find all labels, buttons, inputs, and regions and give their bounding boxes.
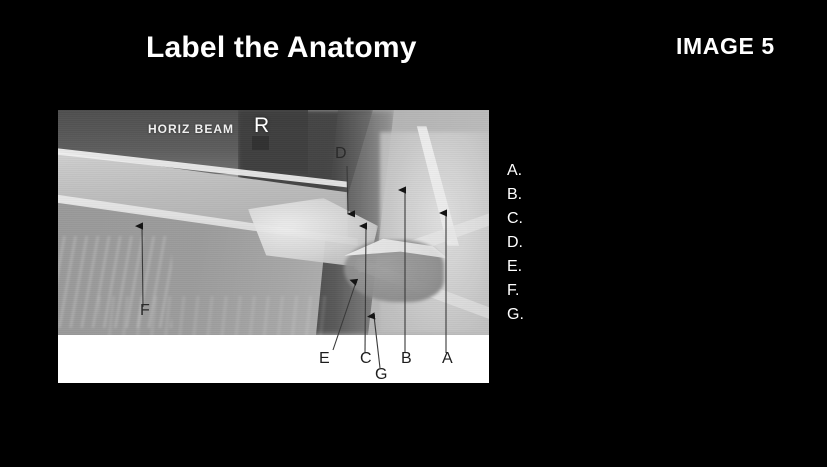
annotation-letter-a: A xyxy=(442,350,453,368)
annotation-letter-c: C xyxy=(360,350,372,368)
answer-item-c[interactable]: C. xyxy=(507,207,524,231)
annotation-letter-f: F xyxy=(140,302,150,320)
image-number-label: IMAGE 5 xyxy=(676,33,775,60)
arrow-line-e xyxy=(333,282,356,350)
radiograph-figure: HORIZ BEAM R D xyxy=(58,110,489,383)
answer-item-e[interactable]: E. xyxy=(507,255,524,279)
answer-item-b[interactable]: B. xyxy=(507,183,524,207)
arrow-line-g xyxy=(374,316,380,368)
annotation-letter-g: G xyxy=(375,366,387,383)
answer-item-g[interactable]: G. xyxy=(507,303,524,327)
annotation-letter-e: E xyxy=(319,350,330,368)
answer-item-f[interactable]: F. xyxy=(507,279,524,303)
slide-canvas: Label the Anatomy IMAGE 5 A. B. C. D. E.… xyxy=(0,0,827,467)
arrow-line-d xyxy=(347,166,348,214)
page-title: Label the Anatomy xyxy=(146,31,417,65)
arrow-line-f xyxy=(142,226,143,307)
answer-blank-list: A. B. C. D. E. F. G. xyxy=(507,159,524,327)
annotation-arrow-layer xyxy=(58,110,489,383)
annotation-letter-d: D xyxy=(335,145,347,163)
answer-item-a[interactable]: A. xyxy=(507,159,524,183)
answer-item-d[interactable]: D. xyxy=(507,231,524,255)
arrow-line-c xyxy=(365,226,366,353)
annotation-letter-b: B xyxy=(401,350,412,368)
